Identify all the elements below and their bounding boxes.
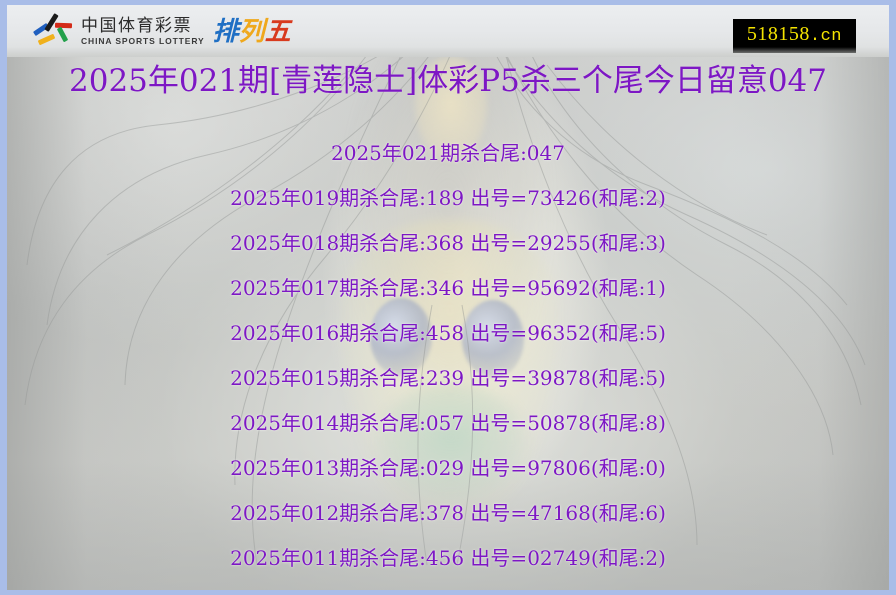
prediction-line-text: 2025年016期杀合尾:458 出号=96352(和尾:5) xyxy=(230,311,666,356)
prediction-line-text: 2025年015期杀合尾:239 出号=39878(和尾:5) xyxy=(230,356,666,401)
logo-game-char-2: 列 xyxy=(239,17,265,47)
list-item: 2025年018期杀合尾:368 出号=29255(和尾:3) xyxy=(7,221,889,266)
header-fade xyxy=(7,47,889,57)
list-item: 2025年016期杀合尾:458 出号=96352(和尾:5) xyxy=(7,311,889,356)
list-item: 2025年017期杀合尾:346 出号=95692(和尾:1) xyxy=(7,266,889,311)
logo-english-name: CHINA SPORTS LOTTERY xyxy=(81,36,205,47)
logo-game-name: 排列五 xyxy=(213,17,291,47)
prediction-line-text: 2025年019期杀合尾:189 出号=73426(和尾:2) xyxy=(230,176,666,221)
prediction-line-text: 2025年013期杀合尾:029 出号=97806(和尾:0) xyxy=(230,446,666,491)
prediction-line-text: 2025年012期杀合尾:378 出号=47168(和尾:6) xyxy=(230,491,666,536)
site-domain-tld: .cn xyxy=(810,27,842,46)
prediction-line-text: 2025年018期杀合尾:368 出号=29255(和尾:3) xyxy=(230,221,666,266)
site-header: 中国体育彩票 CHINA SPORTS LOTTERY 排列五 518158.c… xyxy=(7,5,889,57)
list-item: 2025年011期杀合尾:456 出号=02749(和尾:2) xyxy=(7,536,889,581)
logo-game-char-1: 排 xyxy=(213,17,239,47)
logo-wordmark: 中国体育彩票 CHINA SPORTS LOTTERY xyxy=(81,17,205,47)
list-item: 2025年012期杀合尾:378 出号=47168(和尾:6) xyxy=(7,491,889,536)
prediction-line-text: 2025年021期杀合尾:047 xyxy=(331,131,565,176)
prediction-list: 2025年021期杀合尾:047 2025年019期杀合尾:189 出号=734… xyxy=(7,131,889,581)
logo-game-char-3: 五 xyxy=(265,17,291,47)
china-sports-lottery-star-icon xyxy=(33,15,75,49)
list-item: 2025年021期杀合尾:047 xyxy=(7,131,889,176)
list-item: 2025年013期杀合尾:029 出号=97806(和尾:0) xyxy=(7,446,889,491)
page-title: 2025年021期[青莲隐士]体彩P5杀三个尾今日留意047 xyxy=(7,61,889,101)
site-domain-name: 518158 xyxy=(747,23,810,45)
logo-chinese-name: 中国体育彩票 xyxy=(81,17,205,36)
list-item: 2025年019期杀合尾:189 出号=73426(和尾:2) xyxy=(7,176,889,221)
prediction-line-text: 2025年017期杀合尾:346 出号=95692(和尾:1) xyxy=(230,266,666,311)
page-root: 中国体育彩票 CHINA SPORTS LOTTERY 排列五 518158.c… xyxy=(0,0,896,595)
prediction-line-text: 2025年014期杀合尾:057 出号=50878(和尾:8) xyxy=(230,401,666,446)
lottery-logo[interactable]: 中国体育彩票 CHINA SPORTS LOTTERY 排列五 xyxy=(33,14,291,50)
list-item: 2025年015期杀合尾:239 出号=39878(和尾:5) xyxy=(7,356,889,401)
prediction-line-text: 2025年011期杀合尾:456 出号=02749(和尾:2) xyxy=(230,536,666,581)
list-item: 2025年014期杀合尾:057 出号=50878(和尾:8) xyxy=(7,401,889,446)
content-canvas: 中国体育彩票 CHINA SPORTS LOTTERY 排列五 518158.c… xyxy=(7,5,889,590)
